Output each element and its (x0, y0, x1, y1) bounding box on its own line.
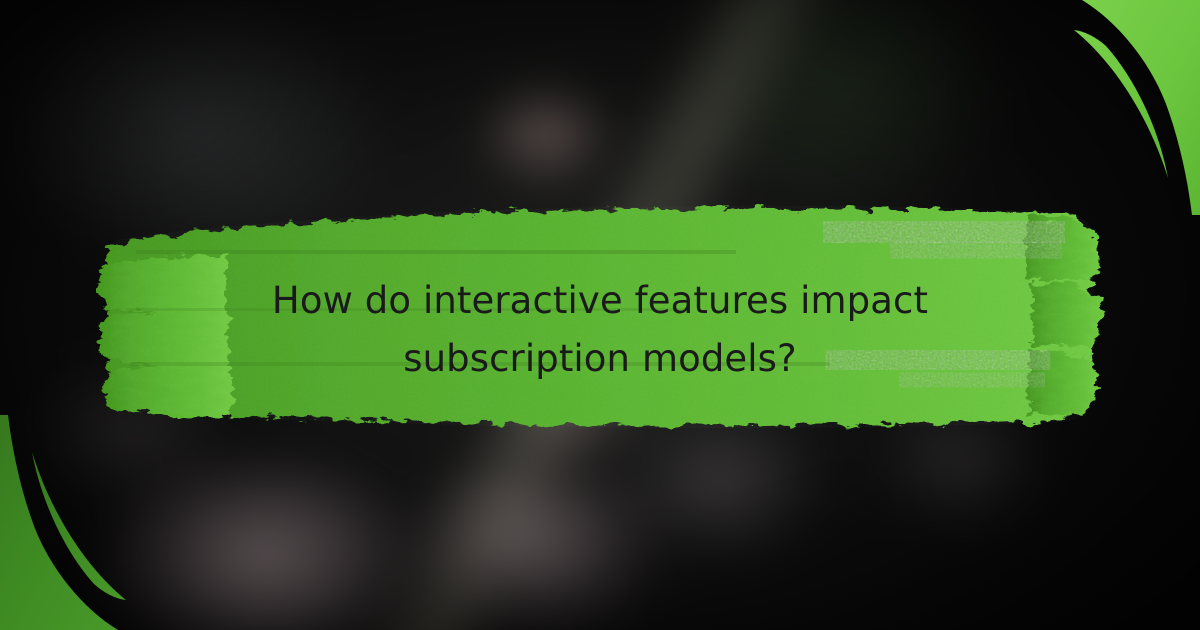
poster-canvas: How do interactive features impact subsc… (0, 0, 1200, 630)
page-title: How do interactive features impact subsc… (0, 272, 1200, 388)
